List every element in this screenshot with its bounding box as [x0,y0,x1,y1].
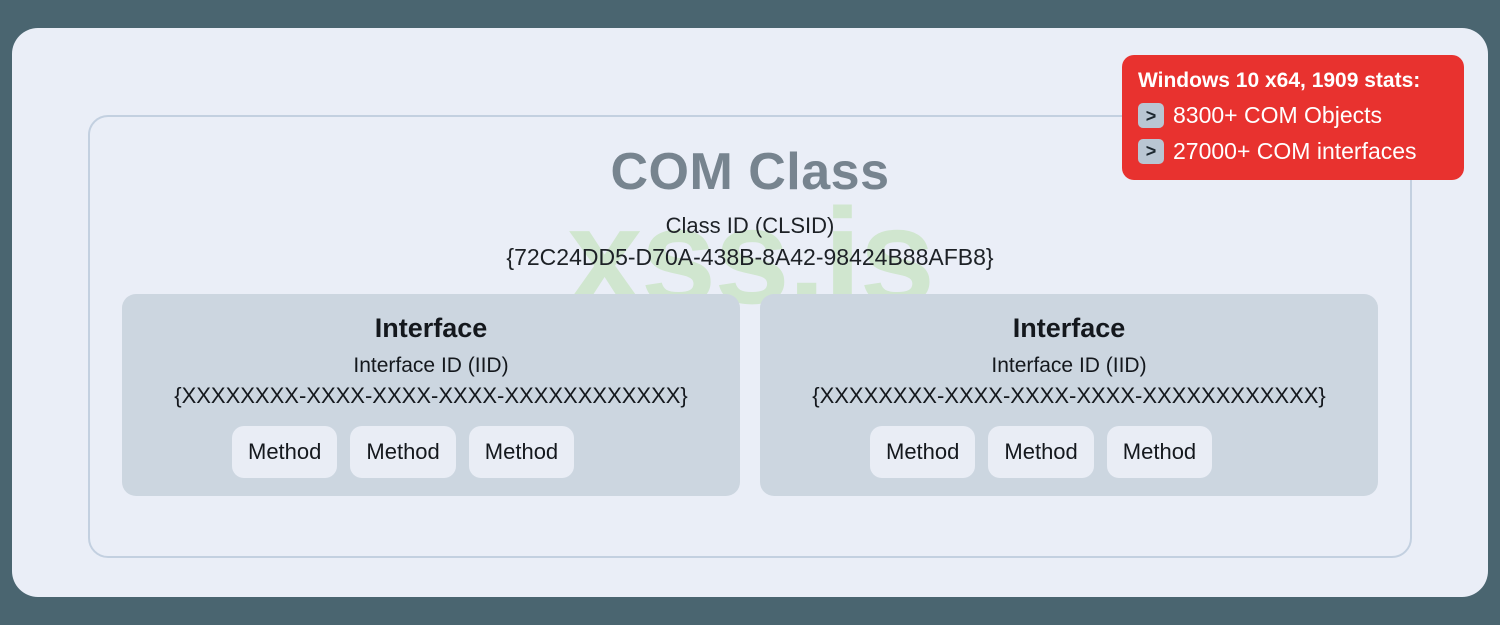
chevron-right-icon: > [1138,139,1164,164]
interface-id-value: {XXXXXXXX-XXXX-XXXX-XXXX-XXXXXXXXXXXX} [774,382,1364,410]
interface-row: Interface Interface ID (IID) {XXXXXXXX-X… [122,294,1378,497]
stats-badge: Windows 10 x64, 1909 stats: > 8300+ COM … [1122,55,1464,180]
stats-item-label: 8300+ COM Objects [1173,101,1382,130]
method-box: Method [988,426,1093,478]
com-class-container: COM Class Class ID (CLSID) {72C24DD5-D70… [88,115,1412,558]
method-box: Method [870,426,975,478]
interface-title: Interface [774,312,1364,344]
interface-title: Interface [136,312,726,344]
diagram-canvas: xss.is COM Class Class ID (CLSID) {72C24… [0,0,1500,625]
interface-id-label: Interface ID (IID) [136,353,726,379]
stats-item: > 27000+ COM interfaces [1138,137,1448,166]
method-box: Method [350,426,455,478]
interface-id-label: Interface ID (IID) [774,353,1364,379]
stats-item-label: 27000+ COM interfaces [1173,137,1417,166]
method-box: Method [469,426,574,478]
chevron-right-icon: > [1138,103,1164,128]
stats-badge-title: Windows 10 x64, 1909 stats: [1138,67,1448,94]
interface-panel-1: Interface Interface ID (IID) {XXXXXXXX-X… [122,294,740,497]
stats-item: > 8300+ COM Objects [1138,101,1448,130]
clsid-label: Class ID (CLSID) [90,212,1410,240]
interface-id-value: {XXXXXXXX-XXXX-XXXX-XXXX-XXXXXXXXXXXX} [136,382,726,410]
clsid-value: {72C24DD5-D70A-438B-8A42-98424B88AFB8} [90,243,1410,272]
method-row: Method Method Method [774,426,1364,478]
method-row: Method Method Method [136,426,726,478]
method-box: Method [232,426,337,478]
method-box: Method [1107,426,1212,478]
interface-panel-2: Interface Interface ID (IID) {XXXXXXXX-X… [760,294,1378,497]
